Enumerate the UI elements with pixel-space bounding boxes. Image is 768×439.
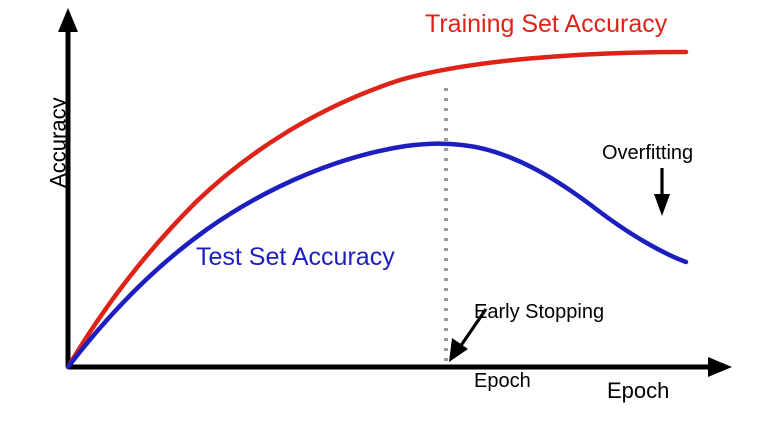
- chart-graphics: [0, 0, 768, 432]
- overfitting-label: Overfitting: [602, 142, 693, 165]
- early-stopping-epoch-label-line2: Epoch: [474, 370, 604, 393]
- overfitting-arrow-icon: [654, 168, 670, 216]
- y-axis-arrowhead-icon: [58, 8, 78, 32]
- chart-canvas: Training Set Accuracy Test Set Accuracy …: [0, 0, 768, 432]
- y-axis-label: Accuracy: [45, 73, 70, 213]
- early-stopping-epoch-label-line1: Early Stopping: [474, 301, 604, 324]
- training-set-accuracy-label: Training Set Accuracy: [425, 10, 667, 39]
- x-axis-label: Epoch: [607, 378, 669, 403]
- x-axis-arrowhead-icon: [708, 357, 732, 377]
- x-axis: [68, 357, 732, 377]
- test-set-accuracy-label: Test Set Accuracy: [196, 243, 395, 272]
- early-stopping-epoch-label: Early Stopping Epoch: [474, 255, 604, 439]
